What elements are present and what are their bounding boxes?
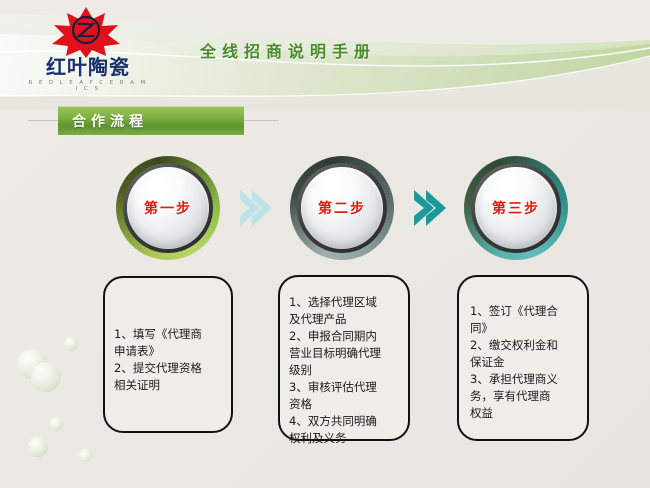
decorative-bubble (79, 449, 92, 462)
step-face-2: 第二步 (301, 167, 383, 249)
step-detail-line: 3、承担代理商义 (470, 371, 579, 388)
brand-logo: 红叶陶瓷 R E D L E A F C E R A M I C S (22, 6, 152, 98)
step-detail-box-3: 1、签订《代理合 同》 2、缴交权利金和 保证金 3、承担代理商义 务，享有代理… (457, 275, 589, 441)
step-detail-line: 同》 (470, 320, 579, 337)
step-detail-line: 2、提交代理资格 (114, 360, 222, 377)
brand-name-cn: 红叶陶瓷 (28, 56, 148, 78)
step-detail-line: 4、双方共同明确 (289, 413, 400, 430)
step-label-2: 第二步 (318, 198, 366, 218)
step-face-1: 第一步 (127, 167, 209, 249)
section-title: 合作流程 (58, 106, 244, 131)
red-maple-leaf-emblem-icon (48, 6, 124, 58)
decorative-bubble (31, 362, 61, 392)
step-badge-1[interactable]: 第一步 (116, 156, 220, 260)
step-detail-line: 权利及义务 (289, 430, 400, 447)
step-detail-line: 务，享有代理商 (470, 388, 579, 405)
step-badge-2[interactable]: 第二步 (290, 156, 394, 260)
section-rule-left (28, 120, 60, 121)
step-detail-line: 3、审核评估代理 (289, 379, 400, 396)
step-detail-line: 及代理产品 (289, 311, 400, 328)
step-detail-line: 1、填写《代理商 (114, 326, 222, 343)
step-detail-box-1: 1、填写《代理商 申请表》 2、提交代理资格 相关证明 (103, 276, 233, 433)
step-detail-line: 保证金 (470, 354, 579, 371)
section-title-bar: 合作流程 (58, 106, 244, 135)
step-detail-line: 2、申报合同期内 (289, 328, 400, 345)
step-detail-line: 营业目标明确代理 (289, 345, 400, 362)
decorative-bubble (64, 337, 78, 351)
step-detail-line: 2、缴交权利金和 (470, 337, 579, 354)
step-face-3: 第三步 (475, 167, 557, 249)
step-detail-line: 1、签订《代理合 (470, 303, 579, 320)
step-detail-line: 级别 (289, 362, 400, 379)
step-detail-box-2: 1、选择代理区域 及代理产品 2、申报合同期内 营业目标明确代理 级别 3、审核… (278, 275, 410, 441)
page-title: 全线招商说明手册 (200, 38, 530, 62)
slide-canvas: 红叶陶瓷 R E D L E A F C E R A M I C S 全线招商说… (0, 0, 650, 488)
step-label-3: 第三步 (492, 198, 540, 218)
chevron-right-icon-1 (236, 186, 276, 230)
decorative-bubble (49, 417, 63, 431)
step-detail-line: 资格 (289, 396, 400, 413)
step-detail-line: 权益 (470, 405, 579, 422)
step-detail-line: 申请表》 (114, 343, 222, 360)
chevron-right-icon-2 (410, 186, 450, 230)
brand-name-en: R E D L E A F C E R A M I C S (28, 80, 148, 92)
step-detail-line: 1、选择代理区域 (289, 294, 400, 311)
decorative-bubble (28, 437, 48, 457)
step-detail-line: 相关证明 (114, 377, 222, 394)
step-label-1: 第一步 (144, 198, 192, 218)
section-rule-right (243, 120, 279, 121)
step-badge-3[interactable]: 第三步 (464, 156, 568, 260)
